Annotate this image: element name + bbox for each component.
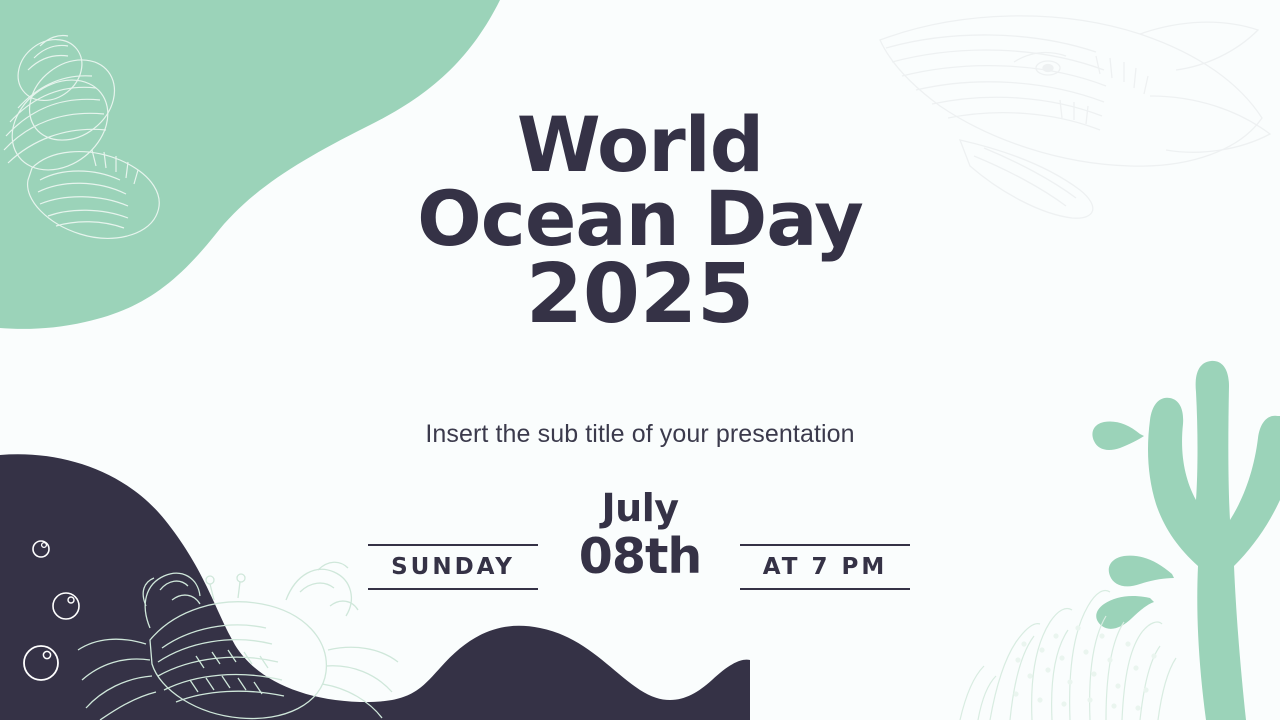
- event-month: July: [540, 486, 740, 530]
- title-line-world: World: [0, 108, 1280, 182]
- event-date: July 08th: [540, 486, 740, 584]
- event-time: AT 7 PM: [740, 544, 910, 590]
- slide-subtitle: Insert the sub title of your presentatio…: [0, 420, 1280, 449]
- presentation-slide: World Ocean Day 2025 Insert the sub titl…: [0, 0, 1280, 720]
- slide-title: World Ocean Day 2025: [0, 108, 1280, 335]
- title-line-ocean-day: Ocean Day: [0, 182, 1280, 256]
- event-date-row: SUNDAY July 08th AT 7 PM: [0, 486, 1280, 606]
- event-weekday: SUNDAY: [368, 544, 538, 590]
- event-day: 08th: [540, 530, 740, 584]
- title-line-year: 2025: [0, 255, 1280, 335]
